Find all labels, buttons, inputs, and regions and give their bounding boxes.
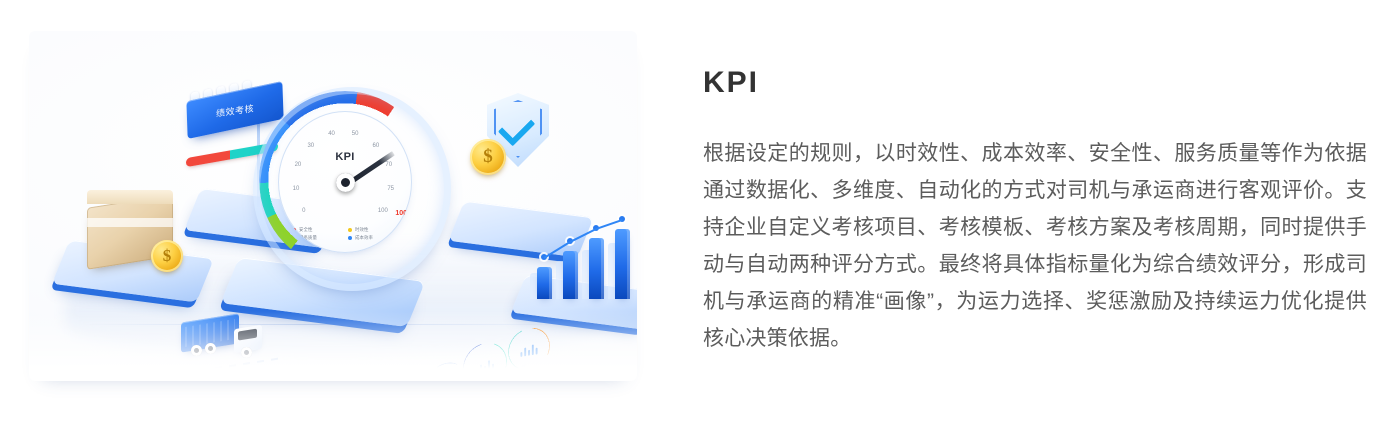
- gauge-tick-label: 20: [295, 162, 302, 168]
- legend-dot-icon: [348, 236, 352, 240]
- legend-label: 安全性: [299, 227, 312, 233]
- legend-item: 安全性: [292, 227, 342, 233]
- coin-icon: $: [151, 240, 183, 272]
- gauge-max-label: 100: [395, 210, 407, 217]
- gauge-hub: [336, 173, 355, 192]
- truck-wheel: [241, 347, 252, 358]
- gauge-legend: 安全性 时效性 服务质量 成本效率: [292, 227, 398, 241]
- bar-chart-bar: [615, 229, 630, 299]
- gauge-tick-label: 30: [307, 143, 314, 149]
- gauge-tick-label: 70: [385, 162, 392, 168]
- gauge-tick-label: 40: [328, 131, 335, 137]
- performance-sign-label: 绩效考核: [216, 101, 255, 119]
- bar-chart-bar: [589, 238, 604, 299]
- kpi-text-column: KPI 根据设定的规则，以时效性、成本效率、安全性、服务质量等作为依据通过数据化…: [703, 66, 1367, 357]
- truck-wheel: [191, 345, 202, 356]
- truck-wheel: [205, 343, 216, 354]
- gauge-tick-label: 75: [387, 186, 394, 192]
- feature-description: 根据设定的规则，以时效性、成本效率、安全性、服务质量等作为依据通过数据化、多维度…: [703, 99, 1367, 357]
- delivery-truck-icon: [181, 314, 277, 362]
- gauge-tick-label: 50: [352, 131, 359, 137]
- check-mark-icon: [498, 108, 535, 145]
- page-title: KPI: [703, 66, 1367, 99]
- mini-progress-bar: [273, 375, 303, 381]
- legend-item: 服务质量: [292, 235, 342, 241]
- legend-dot-icon: [348, 228, 352, 232]
- legend-item: 时效性: [348, 227, 398, 233]
- legend-label: 时效性: [355, 227, 368, 233]
- gauge-face: KPI 100 安全性 时效性 服务质量: [278, 111, 412, 253]
- kpi-gauge: KPI 100 安全性 时效性 服务质量: [253, 87, 437, 283]
- gauge-tick-label: 10: [293, 186, 300, 192]
- legend-label: 服务质量: [299, 235, 317, 241]
- legend-item: 成本效率: [348, 235, 398, 241]
- legend-label: 成本效率: [355, 235, 373, 241]
- kpi-feature-section: $ 绩效考核 KPI 100 安全性: [0, 0, 1394, 443]
- gauge-tick-label: 60: [373, 143, 380, 149]
- gauge-tick-label: 100: [378, 208, 388, 214]
- gauge-tick-label: 0: [302, 208, 305, 214]
- coin-icon: $: [470, 139, 506, 175]
- legend-dot-icon: [292, 228, 296, 232]
- kpi-illustration-panel: $ 绩效考核 KPI 100 安全性: [29, 31, 637, 381]
- legend-dot-icon: [292, 236, 296, 240]
